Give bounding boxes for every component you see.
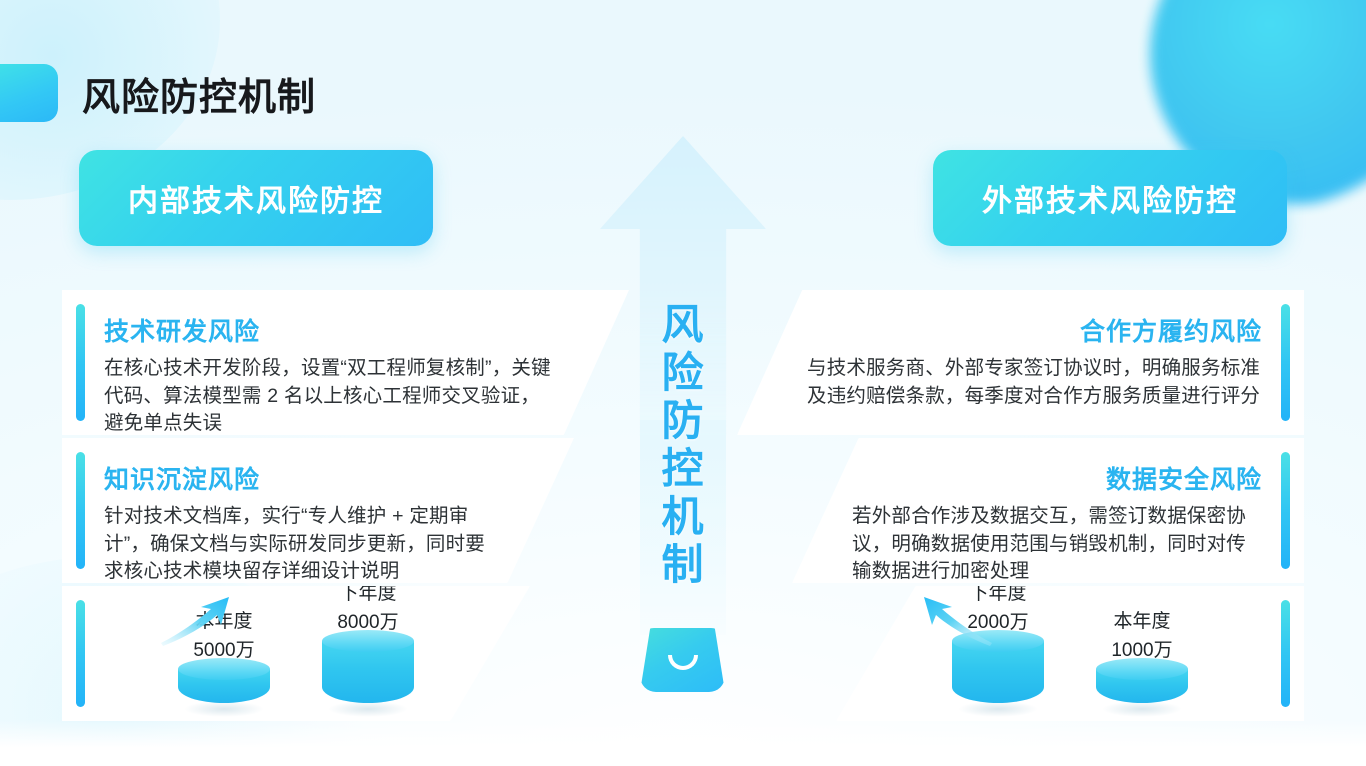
card-body: 针对技术文档库，实行“专人维护 + 定期审计”，确保文档与实际研发同步更新，同时… [104, 503, 504, 586]
center-vertical-title: 风险防控机制 [656, 296, 710, 596]
risk-chart-card-internal[interactable]: 本年度 5000万 下年度 8000万 [62, 586, 530, 721]
card-title: 合作方履约风险 [737, 312, 1262, 348]
section-header-external[interactable]: 外部技术风险防控 [933, 150, 1287, 246]
chart-cylinder [1096, 669, 1188, 703]
smile-curve [668, 655, 698, 670]
title-accent-mark [0, 64, 58, 122]
risk-chart-card-external[interactable]: 下年度 2000万 本年度 1000万 [836, 586, 1304, 721]
card-title: 技术研发风险 [104, 312, 629, 348]
page-header: 风险防控机制 [0, 62, 316, 124]
investment-chart-internal: 本年度 5000万 下年度 8000万 [62, 586, 530, 721]
chart-cylinder [322, 641, 414, 703]
page-title: 风险防控机制 [82, 66, 316, 121]
section-header-internal-label: 内部技术风险防控 [128, 176, 384, 220]
trend-up-left-arrow-icon [920, 595, 994, 647]
chart-bar-period: 本年度 [1087, 610, 1197, 634]
chart-bar-item: 本年度 1000万 [1087, 610, 1197, 704]
card-accent-bar [1281, 304, 1290, 421]
trend-up-arrow-icon [159, 595, 233, 647]
card-accent-bar [76, 304, 85, 421]
card-title: 数据安全风险 [792, 460, 1262, 496]
smile-bag-icon [640, 628, 725, 692]
card-body: 与技术服务商、外部专家签订协议时，明确服务标准及违约赔偿条款，每季度对合作方服务… [807, 355, 1262, 410]
card-body: 在核心技术开发阶段，设置“双工程师复核制”，关键代码、算法模型需 2 名以上核心… [104, 355, 559, 438]
risk-card-external-1[interactable]: 合作方履约风险 与技术服务商、外部专家签订协议时，明确服务标准及违约赔偿条款，每… [737, 290, 1304, 435]
chart-bar-item: 下年度 8000万 [313, 582, 423, 704]
card-accent-bar [76, 452, 85, 569]
section-header-internal[interactable]: 内部技术风险防控 [79, 150, 433, 246]
investment-chart-external: 下年度 2000万 本年度 1000万 [836, 586, 1304, 721]
risk-card-external-2[interactable]: 数据安全风险 若外部合作涉及数据交互，需签订数据保密协议，明确数据使用范围与销毁… [792, 438, 1304, 583]
chart-cylinder [952, 641, 1044, 703]
risk-card-internal-2[interactable]: 知识沉淀风险 针对技术文档库，实行“专人维护 + 定期审计”，确保文档与实际研发… [62, 438, 574, 583]
card-body: 若外部合作涉及数据交互，需签订数据保密协议，明确数据使用范围与销毁机制，同时对传… [852, 503, 1262, 586]
section-header-external-label: 外部技术风险防控 [982, 176, 1238, 220]
card-title: 知识沉淀风险 [104, 460, 574, 496]
risk-card-internal-1[interactable]: 技术研发风险 在核心技术开发阶段，设置“双工程师复核制”，关键代码、算法模型需 … [62, 290, 629, 435]
card-accent-bar [1281, 452, 1290, 569]
chart-cylinder [178, 669, 270, 703]
bottom-fade [0, 720, 1366, 766]
chart-bar-period: 下年度 [313, 582, 423, 606]
